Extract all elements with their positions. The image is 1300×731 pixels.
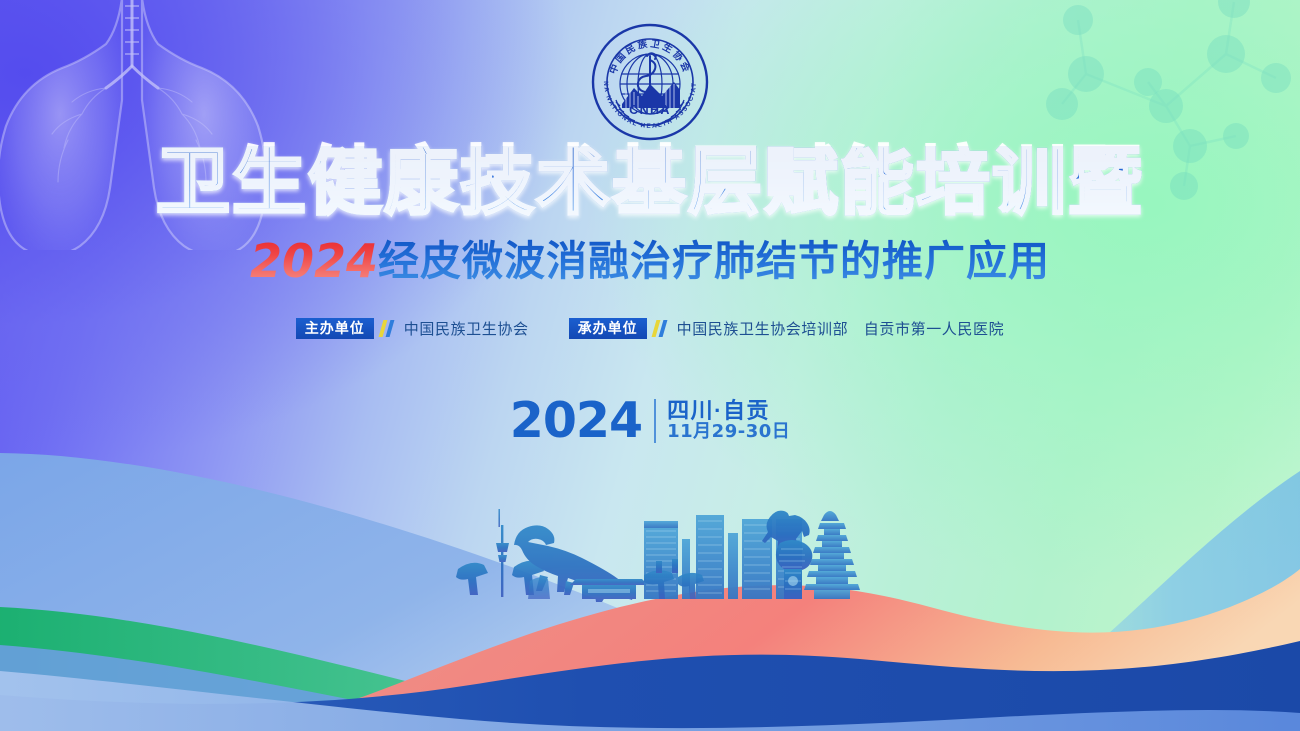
cnha-logo: 中国民族卫生协会 <box>590 22 710 142</box>
event-days: 11月29-30日 <box>667 422 790 442</box>
event-year: 2024 <box>510 398 642 443</box>
headline-row: 卫生健康技术基层赋能培训暨 <box>0 146 1300 220</box>
subtitle-row: 2024经皮微波消融治疗肺结节的推广应用 <box>0 238 1300 284</box>
date-right-column: 四川·自贡 11月29-30日 <box>667 399 790 443</box>
main-title: 卫生健康技术基层赋能培训暨 <box>156 146 1144 220</box>
conference-banner: 中国民族卫生协会 <box>0 0 1300 731</box>
organizer-co-host-names: 中国民族卫生协会培训部 自贡市第一人民医院 <box>677 318 1005 339</box>
zigong-city-skyline <box>448 497 878 607</box>
slash-marks-icon <box>654 320 668 337</box>
date-divider <box>654 399 656 443</box>
organizer-host-badge: 主办单位 <box>296 318 374 339</box>
organizer-co-host: 承办单位 中国民族卫生协会培训部 自贡市第一人民医院 <box>569 318 1005 339</box>
organizer-host-names: 中国民族卫生协会 <box>404 318 529 339</box>
date-location-block: 2024 四川·自贡 11月29-30日 <box>0 398 1300 443</box>
cnha-logo-icon: 中国民族卫生协会 <box>590 22 710 142</box>
organizer-host: 主办单位 中国民族卫生协会 <box>296 318 529 339</box>
subtitle-text: 经皮微波消融治疗肺结节的推广应用 <box>378 238 1050 284</box>
subtitle-year: 2024 <box>250 234 378 288</box>
logo-acronym: CNHA <box>629 103 671 117</box>
event-city: 四川·自贡 <box>667 399 790 423</box>
slash-marks-icon <box>381 320 395 337</box>
organizer-co-host-badge: 承办单位 <box>569 318 647 339</box>
organizers-row: 主办单位 中国民族卫生协会 承办单位 中国民族卫生协会培训部 自贡市第一人民医院 <box>0 318 1300 339</box>
